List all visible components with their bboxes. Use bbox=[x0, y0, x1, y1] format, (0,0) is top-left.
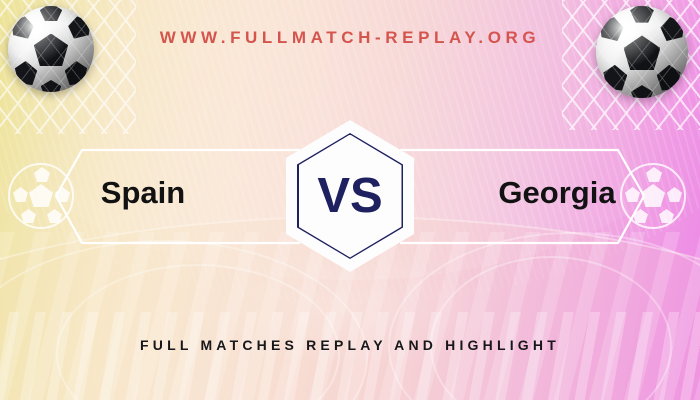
away-team-name: Georgia bbox=[414, 175, 700, 211]
site-url-text: WWW.FULLMATCH-REPLAY.ORG bbox=[0, 28, 700, 48]
versus-label: VS bbox=[286, 120, 414, 272]
outline-ball-patch-bottom-left bbox=[21, 209, 36, 223]
match-banner-graphic: VS WWW.FULLMATCH-REPLAY.ORG Spain Georgi… bbox=[0, 0, 700, 400]
outline-ball-patch-bottom-left bbox=[633, 209, 648, 223]
tagline-text: FULL MATCHES REPLAY AND HIGHLIGHT bbox=[0, 337, 700, 353]
goal-net-overlay-left bbox=[8, 6, 94, 92]
soccer-ball-sphere-right bbox=[596, 6, 688, 98]
goal-net-overlay-right bbox=[596, 6, 688, 98]
soccer-ball-icon-top-right bbox=[562, 0, 700, 130]
home-team-name: Spain bbox=[0, 175, 286, 211]
versus-hexagon-badge: VS bbox=[286, 120, 414, 272]
soccer-ball-icon-top-left bbox=[0, 0, 136, 134]
outline-ball-patch-bottom-right bbox=[47, 209, 62, 223]
soccer-ball-sphere-left bbox=[8, 6, 94, 92]
outline-ball-patch-bottom-right bbox=[659, 209, 674, 223]
